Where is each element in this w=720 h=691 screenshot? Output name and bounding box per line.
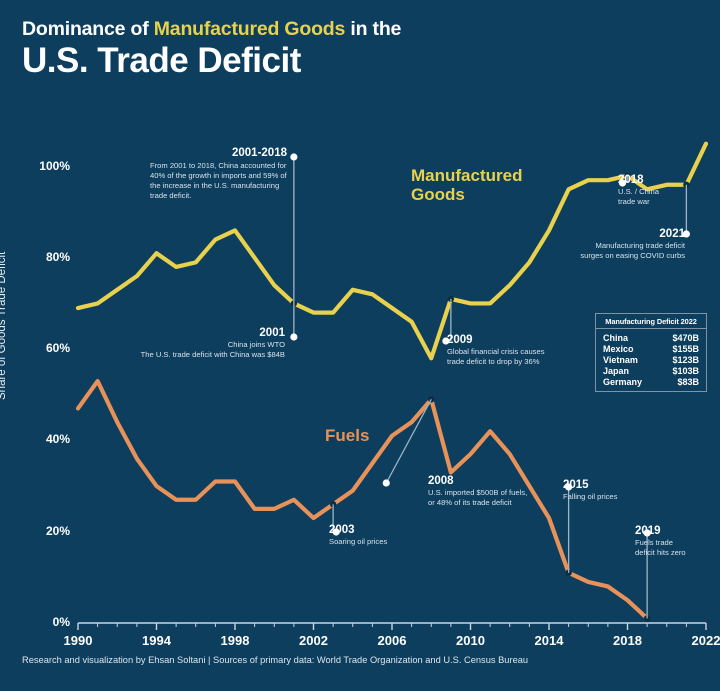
x-axis-tick-label: 2010	[441, 633, 501, 648]
table-cell-country: Germany	[603, 377, 642, 387]
annotation-2009-line2: trade deficit to drop by 36%	[447, 357, 577, 367]
annotation-2001-2018: 2001-2018 From 2001 to 2018, China accou…	[150, 147, 287, 201]
annotation-2001-2018-dot	[290, 153, 297, 160]
y-axis-tick-label: 80%	[8, 250, 70, 264]
annotation-2008: 2008 U.S. imported $500B of fuels, or 48…	[428, 475, 568, 508]
table-cell-value: $155B	[672, 344, 699, 354]
annotation-2019-line1: Fuels trade	[635, 538, 715, 548]
annotation-2001-year: 2001	[130, 327, 285, 339]
footer-credit: Research and visualization by Ehsan Solt…	[22, 655, 528, 665]
annotation-2018-line1: U.S. / China	[618, 187, 708, 197]
annotation-2008-line2: or 48% of its trade deficit	[428, 498, 568, 508]
annotation-2001-line1: China joins WTO	[130, 340, 285, 350]
annotation-2001-2018-year: 2001-2018	[150, 147, 287, 159]
annotation-2008-year: 2008	[428, 475, 568, 487]
series-label-manufactured: Manufactured Goods	[411, 166, 522, 204]
annotation-2021-year: 2021	[545, 228, 685, 240]
table-cell-value: $83B	[677, 377, 699, 387]
series-label-fuels: Fuels	[325, 426, 369, 445]
annotation-2018-line2: trade war	[618, 197, 708, 207]
annotation-2009-line1: Global financial crisis causes	[447, 347, 577, 357]
annotation-2001-line2: The U.S. trade deficit with China was $8…	[130, 350, 285, 360]
x-axis-tick-label: 2018	[598, 633, 658, 648]
y-axis-tick-label: 60%	[8, 341, 70, 355]
x-axis-tick-label: 2022	[676, 633, 720, 648]
table-row: Mexico $155B	[596, 343, 706, 354]
annotation-2003-line1: Soaring oil prices	[329, 537, 439, 547]
annotation-2001-2018-text: From 2001 to 2018, China accounted for 4…	[150, 161, 287, 201]
table-title: Manufacturing Deficit 2022	[596, 314, 706, 329]
series-label-manufactured-l2: Goods	[411, 185, 522, 204]
annotation-2009-year: 2009	[447, 334, 577, 346]
annotation-2003: 2003 Soaring oil prices	[329, 524, 439, 547]
annotation-2015-line1: Falling oil prices	[563, 492, 663, 502]
annotation-2015: 2015 Falling oil prices	[563, 479, 663, 502]
annotation-2008-leader	[386, 399, 431, 483]
x-axis-tick-label: 2002	[284, 633, 344, 648]
annotation-2008-line1: U.S. imported $500B of fuels,	[428, 488, 568, 498]
table-cell-country: Vietnam	[603, 355, 638, 365]
annotation-2018-year: 2018	[618, 174, 708, 186]
y-axis-title: Share of Goods Trade Deficit	[0, 252, 8, 400]
table-cell-value: $123B	[672, 355, 699, 365]
annotation-2021-line1: Manufacturing trade deficit	[545, 241, 685, 251]
x-axis-tick-label: 2006	[362, 633, 422, 648]
series-label-manufactured-l1: Manufactured	[411, 166, 522, 185]
annotation-2008-dot	[383, 479, 390, 486]
annotation-2009: 2009 Global financial crisis causes trad…	[447, 334, 577, 367]
y-axis-tick-label: 20%	[8, 524, 70, 538]
x-axis-tick-label: 2014	[519, 633, 579, 648]
y-axis-tick-label: 0%	[8, 615, 70, 629]
x-axis-tick-label: 1990	[48, 633, 108, 648]
x-axis-tick-label: 1998	[205, 633, 265, 648]
table-cell-country: Japan	[603, 366, 629, 376]
annotation-2019-line2: deficit hits zero	[635, 548, 715, 558]
manufacturing-deficit-table: Manufacturing Deficit 2022 China $470B M…	[595, 313, 707, 392]
annotation-2001: 2001 China joins WTO The U.S. trade defi…	[130, 327, 285, 360]
table-row: Vietnam $123B	[596, 354, 706, 365]
table-body: China $470B Mexico $155B Vietnam $123B J…	[596, 329, 706, 391]
y-axis-tick-label: 100%	[8, 159, 70, 173]
table-cell-value: $103B	[672, 366, 699, 376]
table-cell-country: Mexico	[603, 344, 634, 354]
x-axis-tick-label: 1994	[127, 633, 187, 648]
table-cell-value: $470B	[672, 333, 699, 343]
data-point-marker-2008	[428, 396, 434, 402]
annotation-2001-dot	[290, 333, 297, 340]
annotation-2021: 2021 Manufacturing trade deficit surges …	[545, 228, 685, 261]
table-cell-country: China	[603, 333, 628, 343]
annotation-2021-line2: surges on easing COVID curbs	[545, 251, 685, 261]
annotation-2018: 2018 U.S. / China trade war	[618, 174, 708, 207]
annotation-2003-year: 2003	[329, 524, 439, 536]
table-row: Japan $103B	[596, 365, 706, 376]
annotation-2019: 2019 Fuels trade deficit hits zero	[635, 525, 715, 558]
annotation-2015-year: 2015	[563, 479, 663, 491]
y-axis-tick-label: 40%	[8, 432, 70, 446]
table-row: Germany $83B	[596, 376, 706, 387]
annotation-2019-year: 2019	[635, 525, 715, 537]
table-row: China $470B	[596, 332, 706, 343]
